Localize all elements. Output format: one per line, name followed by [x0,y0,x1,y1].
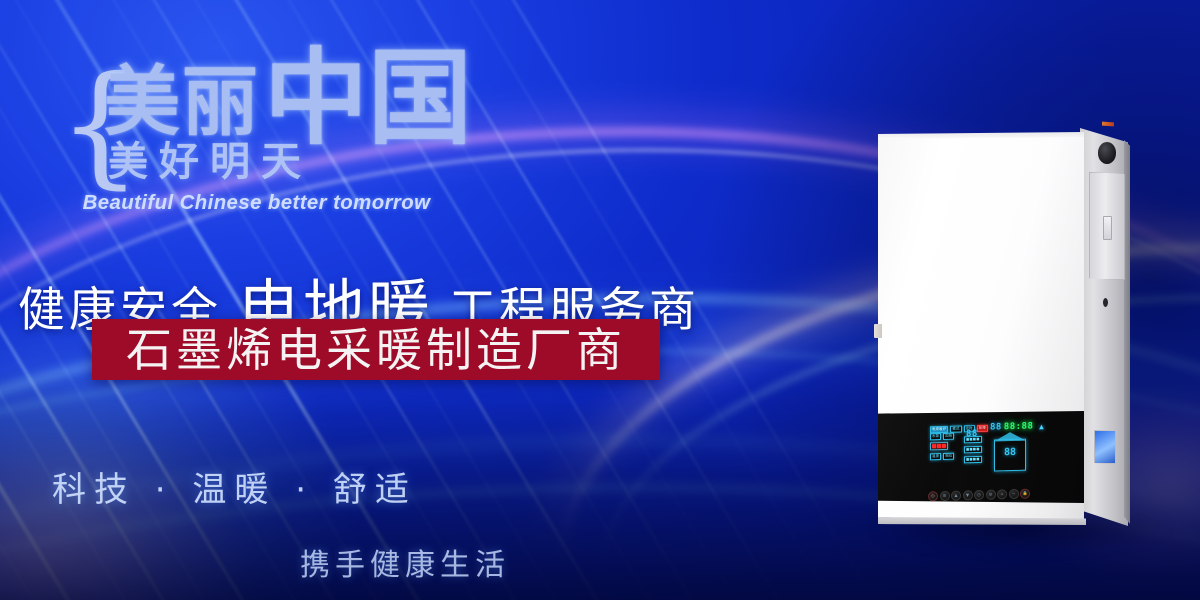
lcd-heater-indicators [930,442,948,451]
down-button[interactable]: ▼ [963,490,973,500]
up-button[interactable]: ▲ [951,491,961,501]
lcd-digits-green: 88:88 [1004,422,1034,432]
highlight-banner-text: 石墨烯电采暖制造厂商 [92,327,660,373]
lcd-digits-cyan-2: 88 [966,430,978,439]
promo-banner: { 美丽中国 美好明天 Beautiful Chinese better tom… [0,0,1200,600]
lcd-bar-2: ■■■■ [964,446,982,453]
brand-logo: { 美丽中国 美好明天 Beautiful Chinese better tom… [58,52,488,227]
minus-button[interactable]: − [1009,489,1019,499]
set-button[interactable]: ⚙ [986,490,996,500]
lcd-room-temp-value: 88 [995,448,1025,459]
logo-main-prefix: 美丽 [104,57,260,146]
logo-english-tagline: Beautiful Chinese better tomorrow [83,192,431,214]
lcd-label-level: 档位 [943,453,954,460]
lock-button[interactable]: 🔒 [1020,489,1030,499]
lcd-label-heat: 加热 [943,433,954,440]
product-side-hole [1103,298,1108,307]
tagline-text: 科技 · 温暖 · 舒适 [52,470,417,510]
lcd-digits-cyan-1: 88 [990,423,1002,432]
lcd-bar-3: ■■■■ [964,456,982,463]
logo-subtitle: 美好明天 [108,140,312,184]
product-vent-icon [1098,142,1116,164]
lcd-display: 电采暖炉 模式 定时 故障 88 88:88 ▲ 水泵 加热 温度 档位 ■■■… [930,423,1026,488]
product-left-tab [874,324,882,338]
logo-main-title: 美丽中国 [104,58,472,142]
lcd-label-temp: 温度 [930,453,941,460]
product-top-connector [1102,122,1114,127]
wifi-icon: ▲ [1037,423,1045,431]
mode-button[interactable]: ☰ [940,491,950,501]
lcd-label-fault: 故障 [977,425,988,432]
product-side-window [1094,430,1116,464]
lcd-label-mode: 模式 [950,425,961,432]
clock-button[interactable]: ◷ [974,490,984,500]
product-image-electric-boiler: 电采暖炉 模式 定时 故障 88 88:88 ▲ 水泵 加热 温度 档位 ■■■… [862,112,1162,532]
highlight-banner: 石墨烯电采暖制造厂商 [92,319,660,380]
plus-button[interactable]: + [997,489,1007,499]
footer-tagline-text: 携手健康生活 [300,548,510,584]
lcd-house-icon: 88 [994,439,1026,472]
product-side-switch [1103,216,1112,240]
power-button[interactable]: ⏻ [928,491,938,501]
lcd-house-roof [994,432,1026,442]
lcd-label-pump: 水泵 [930,433,941,440]
